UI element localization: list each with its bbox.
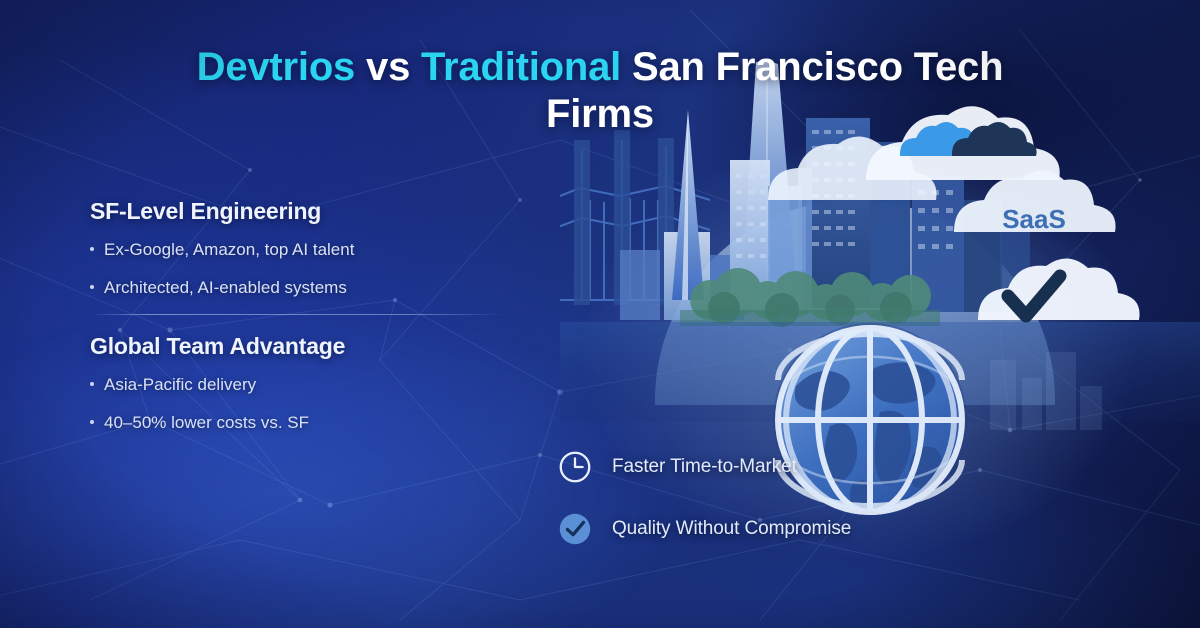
slide-canvas: SaaS xyxy=(0,0,1200,628)
vignette-overlay xyxy=(0,0,1200,628)
